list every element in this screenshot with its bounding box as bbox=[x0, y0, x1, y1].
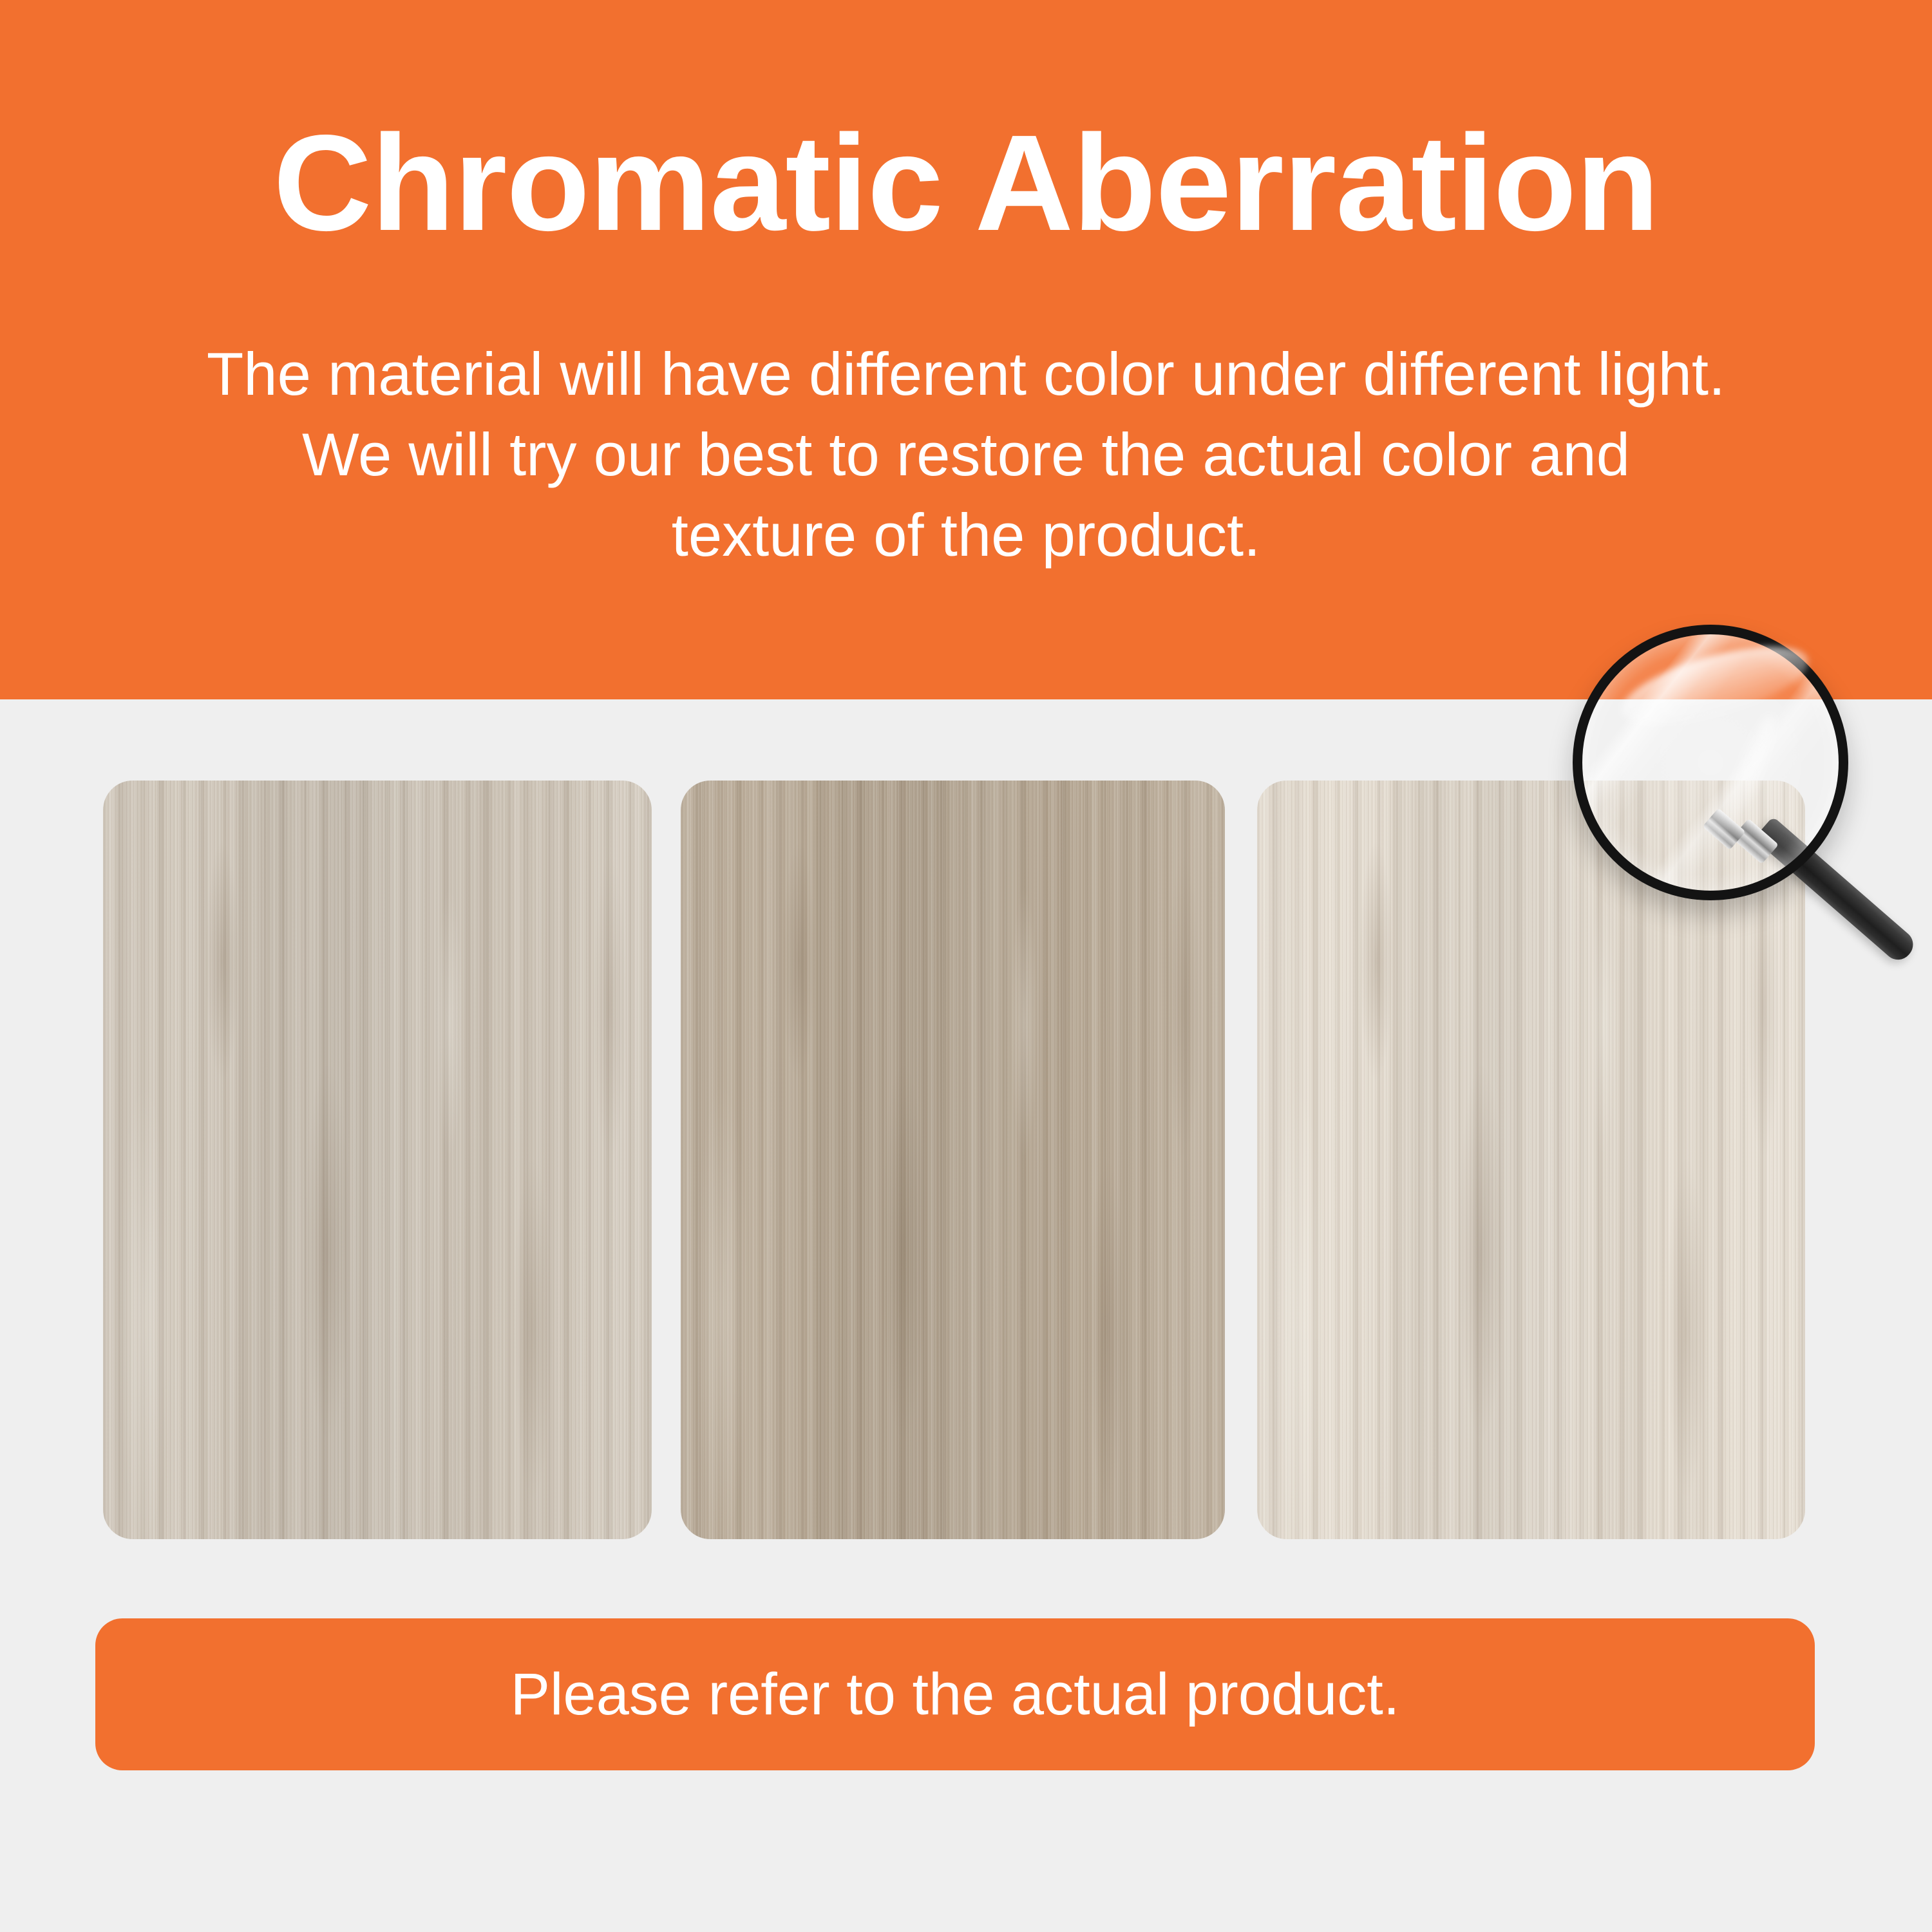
lens-streak-icon bbox=[1709, 712, 1782, 851]
magnifier-lens-icon bbox=[1573, 625, 1848, 900]
footer-banner: Please refer to the actual product. bbox=[95, 1618, 1815, 1770]
magnifier-icon bbox=[1546, 605, 1932, 1005]
infographic-page: Chromatic Aberration The material will h… bbox=[0, 0, 1932, 1932]
wood-texture-middle bbox=[681, 781, 1225, 1539]
wood-sample-middle bbox=[681, 781, 1225, 1539]
lens-glare-icon bbox=[1614, 630, 1816, 741]
wood-texture-left bbox=[103, 781, 652, 1539]
wood-sample-left bbox=[103, 781, 652, 1539]
footer-text: Please refer to the actual product. bbox=[511, 1665, 1400, 1724]
